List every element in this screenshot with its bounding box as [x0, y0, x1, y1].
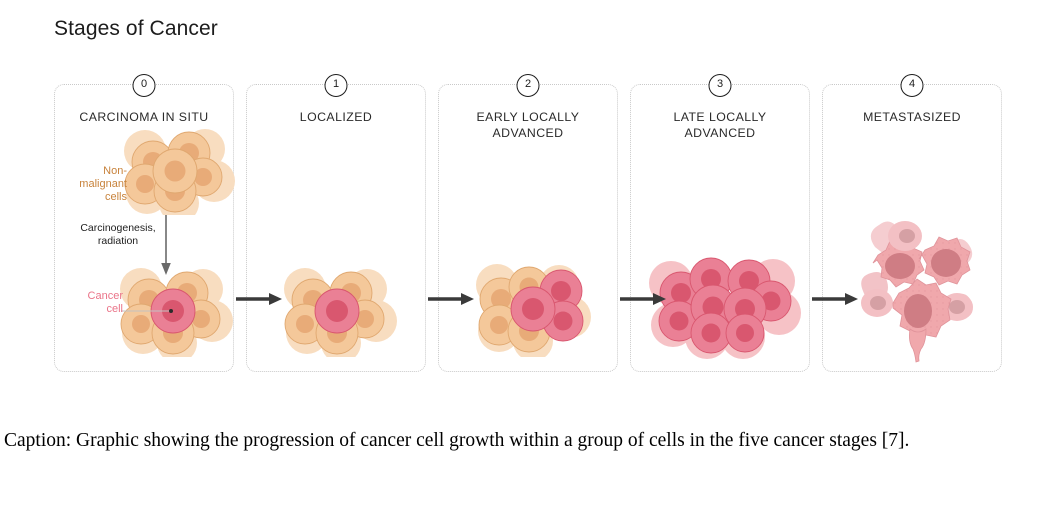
stage-label-3: LATE LOCALLY ADVANCED [637, 109, 803, 141]
label-carcinogenesis-line1: Carcinogenesis, [69, 222, 167, 235]
stage-label-2-line2: ADVANCED [445, 125, 611, 141]
stage-label-1: LOCALIZED [253, 109, 419, 125]
arrow-stage-2-to-3 [620, 291, 668, 307]
stage-label-2: EARLY LOCALLY ADVANCED [445, 109, 611, 141]
cell-cluster-late-locally-advanced [645, 249, 801, 359]
cell-cluster-localized [277, 267, 399, 357]
arrow-stage-0-to-1 [236, 291, 284, 307]
stage-label-3-line2: ADVANCED [637, 125, 803, 141]
arrow-stage-3-to-4 [812, 291, 860, 307]
stage-label-3-line1: LATE LOCALLY [637, 109, 803, 125]
label-carcinogenesis: Carcinogenesis, radiation [69, 222, 167, 248]
stage-panel-0: 0 CARCINOMA IN SITU [54, 84, 234, 372]
metastatic-cell-cluster [857, 211, 979, 363]
stage-number-badge-4: 4 [901, 74, 924, 97]
cell-cluster-normal-top [117, 129, 235, 215]
label-non-malignant-line3: cells [65, 191, 127, 204]
label-cancer-cell-line2: cell [63, 303, 123, 316]
stage-panel-2: 2 EARLY LOCALLY ADVANCED [438, 84, 618, 372]
stage-label-2-line1: EARLY LOCALLY [445, 109, 611, 125]
stage-number-badge-2: 2 [517, 74, 540, 97]
stage-number-badge-1: 1 [325, 74, 348, 97]
stage-panel-1: 1 LOCALIZED [246, 84, 426, 372]
label-non-malignant-cells: Non- malignant cells [65, 165, 127, 204]
stage-panel-4: 4 METASTASIZED [822, 84, 1002, 372]
label-carcinogenesis-line2: radiation [69, 235, 167, 248]
stage-number-badge-0: 0 [133, 74, 156, 97]
label-cancer-cell-line1: Cancer [63, 290, 123, 303]
cancer-cell-leader-line [121, 307, 177, 315]
stage-panel-3: 3 LATE LOCALLY ADVANCED [630, 84, 810, 372]
page-title: Stages of Cancer [54, 17, 218, 41]
label-non-malignant-line1: Non- [65, 165, 127, 178]
cell-cluster-early-locally-advanced [467, 261, 595, 357]
label-non-malignant-line2: malignant [65, 178, 127, 191]
stage-label-4: METASTASIZED [829, 109, 995, 125]
label-cancer-cell: Cancer cell [63, 290, 123, 316]
figure-caption: Caption: Graphic showing the progression… [4, 420, 1034, 462]
arrow-stage-1-to-2 [428, 291, 476, 307]
stage-number-badge-3: 3 [709, 74, 732, 97]
stage-label-0: CARCINOMA IN SITU [61, 109, 227, 125]
stages-diagram: 0 CARCINOMA IN SITU [54, 75, 1002, 380]
